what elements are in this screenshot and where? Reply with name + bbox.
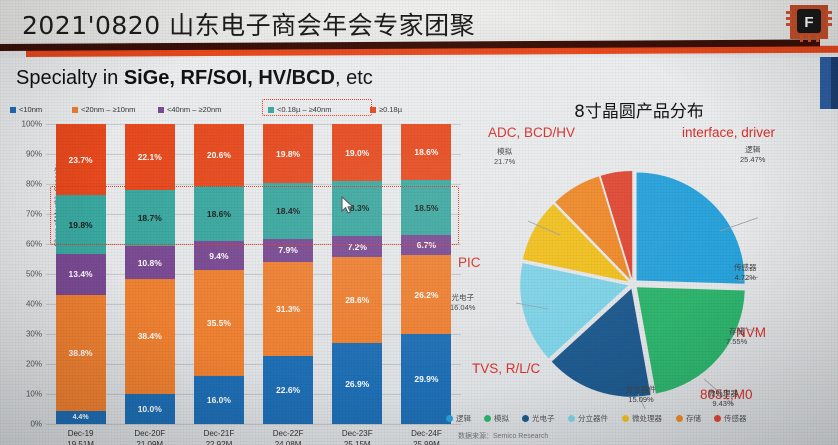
legend-highlight-box [262,99,372,116]
pie-chart-svg [508,159,758,409]
pie-callout-name: 存储 [726,327,747,337]
x-axis-label-period: Dec-22F [249,428,327,439]
x-axis-label: Dec-1919.51M [42,428,120,445]
bar-legend-label: ≥0.18µ [379,105,402,114]
slide-title-bold: SiGe, RF/SOI, HV/BCD [124,67,335,89]
y-axis-tick: 30% [2,330,42,339]
pie-callout: 光电子16.04% [450,293,475,312]
pie-legend-item-1: 模拟 [484,413,509,424]
bar-segment: 7.9% [263,239,313,263]
pie-legend-label: 存储 [686,413,701,424]
pie-callout: 逻辑25.47% [740,145,765,164]
x-axis-label-capacity: 21.09M [111,439,189,445]
bar-segment: 16.0% [194,376,244,424]
y-axis-tick: 90% [2,150,42,159]
band-highlight-box [50,186,459,245]
bar-legend-item-2: <40nm – ≥20nm [158,105,221,114]
pie-legend-label: 微处理器 [632,413,662,424]
legend-dot-icon [446,415,453,422]
gridline [46,364,461,365]
gridline [46,154,461,155]
gridline [46,334,461,335]
pie-callout-name: 分立器件 [626,385,656,395]
bar-chart-legend: <10nm<20nm – ≥10nm<40nm – ≥20nm<0.18µ – … [10,102,474,118]
pie-callout: 模拟21.7% [494,147,515,166]
bar-segment: 18.4% [263,183,313,238]
bar-segment: 19.0% [332,124,382,181]
gridline [46,244,461,245]
pie-callout-value: 16.04% [450,303,475,313]
pie-callout-name: 光电子 [450,293,475,303]
pie-callout-value: 21.7% [494,157,515,167]
x-axis-label: Dec-22F24.08M [249,428,327,445]
gridline [46,304,461,305]
legend-dot-icon [676,415,683,422]
bar-segment: 18.6% [194,186,244,242]
pie-legend-label: 光电子 [532,413,555,424]
pie-callout-value: 4.72% [734,273,757,283]
pie-legend-item-3: 分立器件 [568,413,608,424]
x-axis-label-capacity: 22.92M [180,439,258,445]
y-axis-tick: 40% [2,300,42,309]
bar-segment: 26.9% [332,343,382,424]
presentation-header: 2021'0820 山东电子商会年会专家团聚 [0,0,838,45]
bar-segment: 22.6% [263,356,313,424]
gridline [46,124,461,125]
bar-segment: 38.8% [56,295,106,411]
slide-title-part1: Specialty in [16,67,124,89]
pie-callout: 微处理器9.43% [708,389,738,408]
y-axis-tick: 0% [2,420,42,429]
bar-column: 23.7%19.8%13.4%38.8%4.4% [56,124,106,424]
pie-legend-item-2: 光电子 [522,413,555,424]
bar-legend-item-4: ≥0.18µ [370,105,402,114]
y-axis-tick: 20% [2,360,42,369]
y-axis-tick: 100% [2,120,42,129]
x-axis-label: Dec-23F25.15M [318,428,396,445]
bar-column: 19.8%18.4%7.9%31.3%22.6% [263,124,313,424]
x-axis-label-period: Dec-20F [111,428,189,439]
pie-chart-source: 数据来源：Semico Research [458,431,548,441]
legend-dot-icon [622,415,629,422]
bar-segment: 31.3% [263,262,313,356]
bar-segment: 7.2% [332,236,382,258]
y-axis-tick: 10% [2,390,42,399]
legend-dot-icon [484,415,491,422]
annotation-pic: PIC [458,255,481,270]
x-axis-label-capacity: 25.15M [318,439,396,445]
bar-segment: 23.7% [56,124,106,195]
header-title: 2021'0820 山东电子商会年会专家团聚 [22,6,475,42]
y-axis-tick: 60% [2,240,42,249]
pie-callout-name: 微处理器 [708,389,738,399]
bar-legend-item-0: <10nm [10,105,42,114]
bar-segment: 18.7% [125,190,175,246]
annotation-interface: interface, driver [682,125,775,140]
pie-chart-title: 8寸晶圆产品分布 [440,97,838,122]
bar-legend-item-1: <20nm – ≥10nm [72,105,135,114]
bar-segment: 35.5% [194,270,244,376]
x-axis-label-period: Dec-21F [180,428,258,439]
bar-legend-label: <10nm [19,105,42,114]
mouse-cursor-icon [341,196,354,215]
bar-segment: 22.1% [125,124,175,190]
pie-chart-panel: 8寸晶圆产品分布 ADC, BCD/HV interface, driver P… [440,97,838,445]
bar-segment: 19.8% [263,124,313,183]
bar-column: 19.0%18.3%7.2%28.6%26.9% [332,124,382,424]
gridline [46,214,461,215]
slide-body: Specialty in SiGe, RF/SOI, HV/BCD, etc <… [0,57,838,445]
pie-callout: 存储7.55% [726,327,747,346]
bar-legend-label: <40nm – ≥20nm [167,105,221,114]
y-axis-tick: 50% [2,270,42,279]
gridline [46,424,461,425]
pie-callout-name: 传感器 [734,263,757,273]
pie-legend-label: 逻辑 [456,413,471,424]
bar-segment: 10.8% [125,246,175,278]
pie-callout-value: 7.55% [726,337,747,347]
pie-callout-value: 9.43% [708,399,738,409]
gridline [46,274,461,275]
bar-segment: 9.4% [194,241,244,269]
legend-dot-icon [714,415,721,422]
pie-legend-item-4: 微处理器 [622,413,662,424]
bar-segment: 10.0% [125,394,175,424]
x-axis-label-period: Dec-19 [42,428,120,439]
x-axis-label-capacity: 19.51M [42,439,120,445]
pie-legend-label: 模拟 [494,413,509,424]
bar-column: 22.1%18.7%10.8%38.4%10.0% [125,124,175,424]
bar-segment: 38.4% [125,279,175,394]
pie-callout: 传感器4.72% [734,263,757,282]
pie-legend-item-0: 逻辑 [446,413,471,424]
pie-chart-legend: 逻辑模拟光电子分立器件微处理器存储传感器 [446,413,838,427]
pie-legend-label: 传感器 [724,413,747,424]
svg-text:F: F [804,14,813,31]
pie-callout-value: 25.47% [740,155,765,165]
pie-callout: 分立器件15.09% [626,385,656,404]
legend-dot-icon [522,415,529,422]
bar-segment: 28.6% [332,257,382,343]
bar-segment: 19.8% [56,195,106,254]
bar-legend-label: <20nm – ≥10nm [81,105,135,114]
bar-segment: 13.4% [56,254,106,294]
gridline [46,394,461,395]
y-axis-tick: 80% [2,180,42,189]
slide-title: Specialty in SiGe, RF/SOI, HV/BCD, etc [16,67,373,90]
x-axis-label: Dec-21F22.92M [180,428,258,445]
bar-segment: 4.4% [56,411,106,424]
bar-chart-plot: 100%90%80%70%60%50%40%30%20%10%0% 23.7%1… [46,124,461,424]
annotation-adc: ADC, BCD/HV [488,125,575,140]
pie-legend-item-6: 传感器 [714,413,747,424]
slide-title-part2: , etc [335,67,373,89]
legend-swatch-icon [158,107,164,113]
pie-callout-name: 逻辑 [740,145,765,155]
bar-segment: 20.6% [194,124,244,186]
bar-chart: <10nm<20nm – ≥10nm<40nm – ≥20nm<0.18µ – … [0,102,474,445]
pie-callout-value: 15.09% [626,395,656,405]
legend-dot-icon [568,415,575,422]
pie-legend-label: 分立器件 [578,413,608,424]
gridline [46,184,461,185]
legend-swatch-icon [72,107,78,113]
slide-photo: 2021'0820 山东电子商会年会专家团聚 F Specialty in Si… [0,0,838,445]
chip-logo-icon: F [786,2,832,42]
x-axis-label: Dec-20F21.09M [111,428,189,445]
bar-segment: 18.3% [332,181,382,236]
bar-column: 20.6%18.6%9.4%35.5%16.0% [194,124,244,424]
x-axis-label-period: Dec-23F [318,428,396,439]
legend-swatch-icon [10,107,16,113]
pie-legend-item-5: 存储 [676,413,701,424]
x-axis-label-capacity: 24.08M [249,439,327,445]
y-axis-tick: 70% [2,210,42,219]
pie-callout-name: 模拟 [494,147,515,157]
